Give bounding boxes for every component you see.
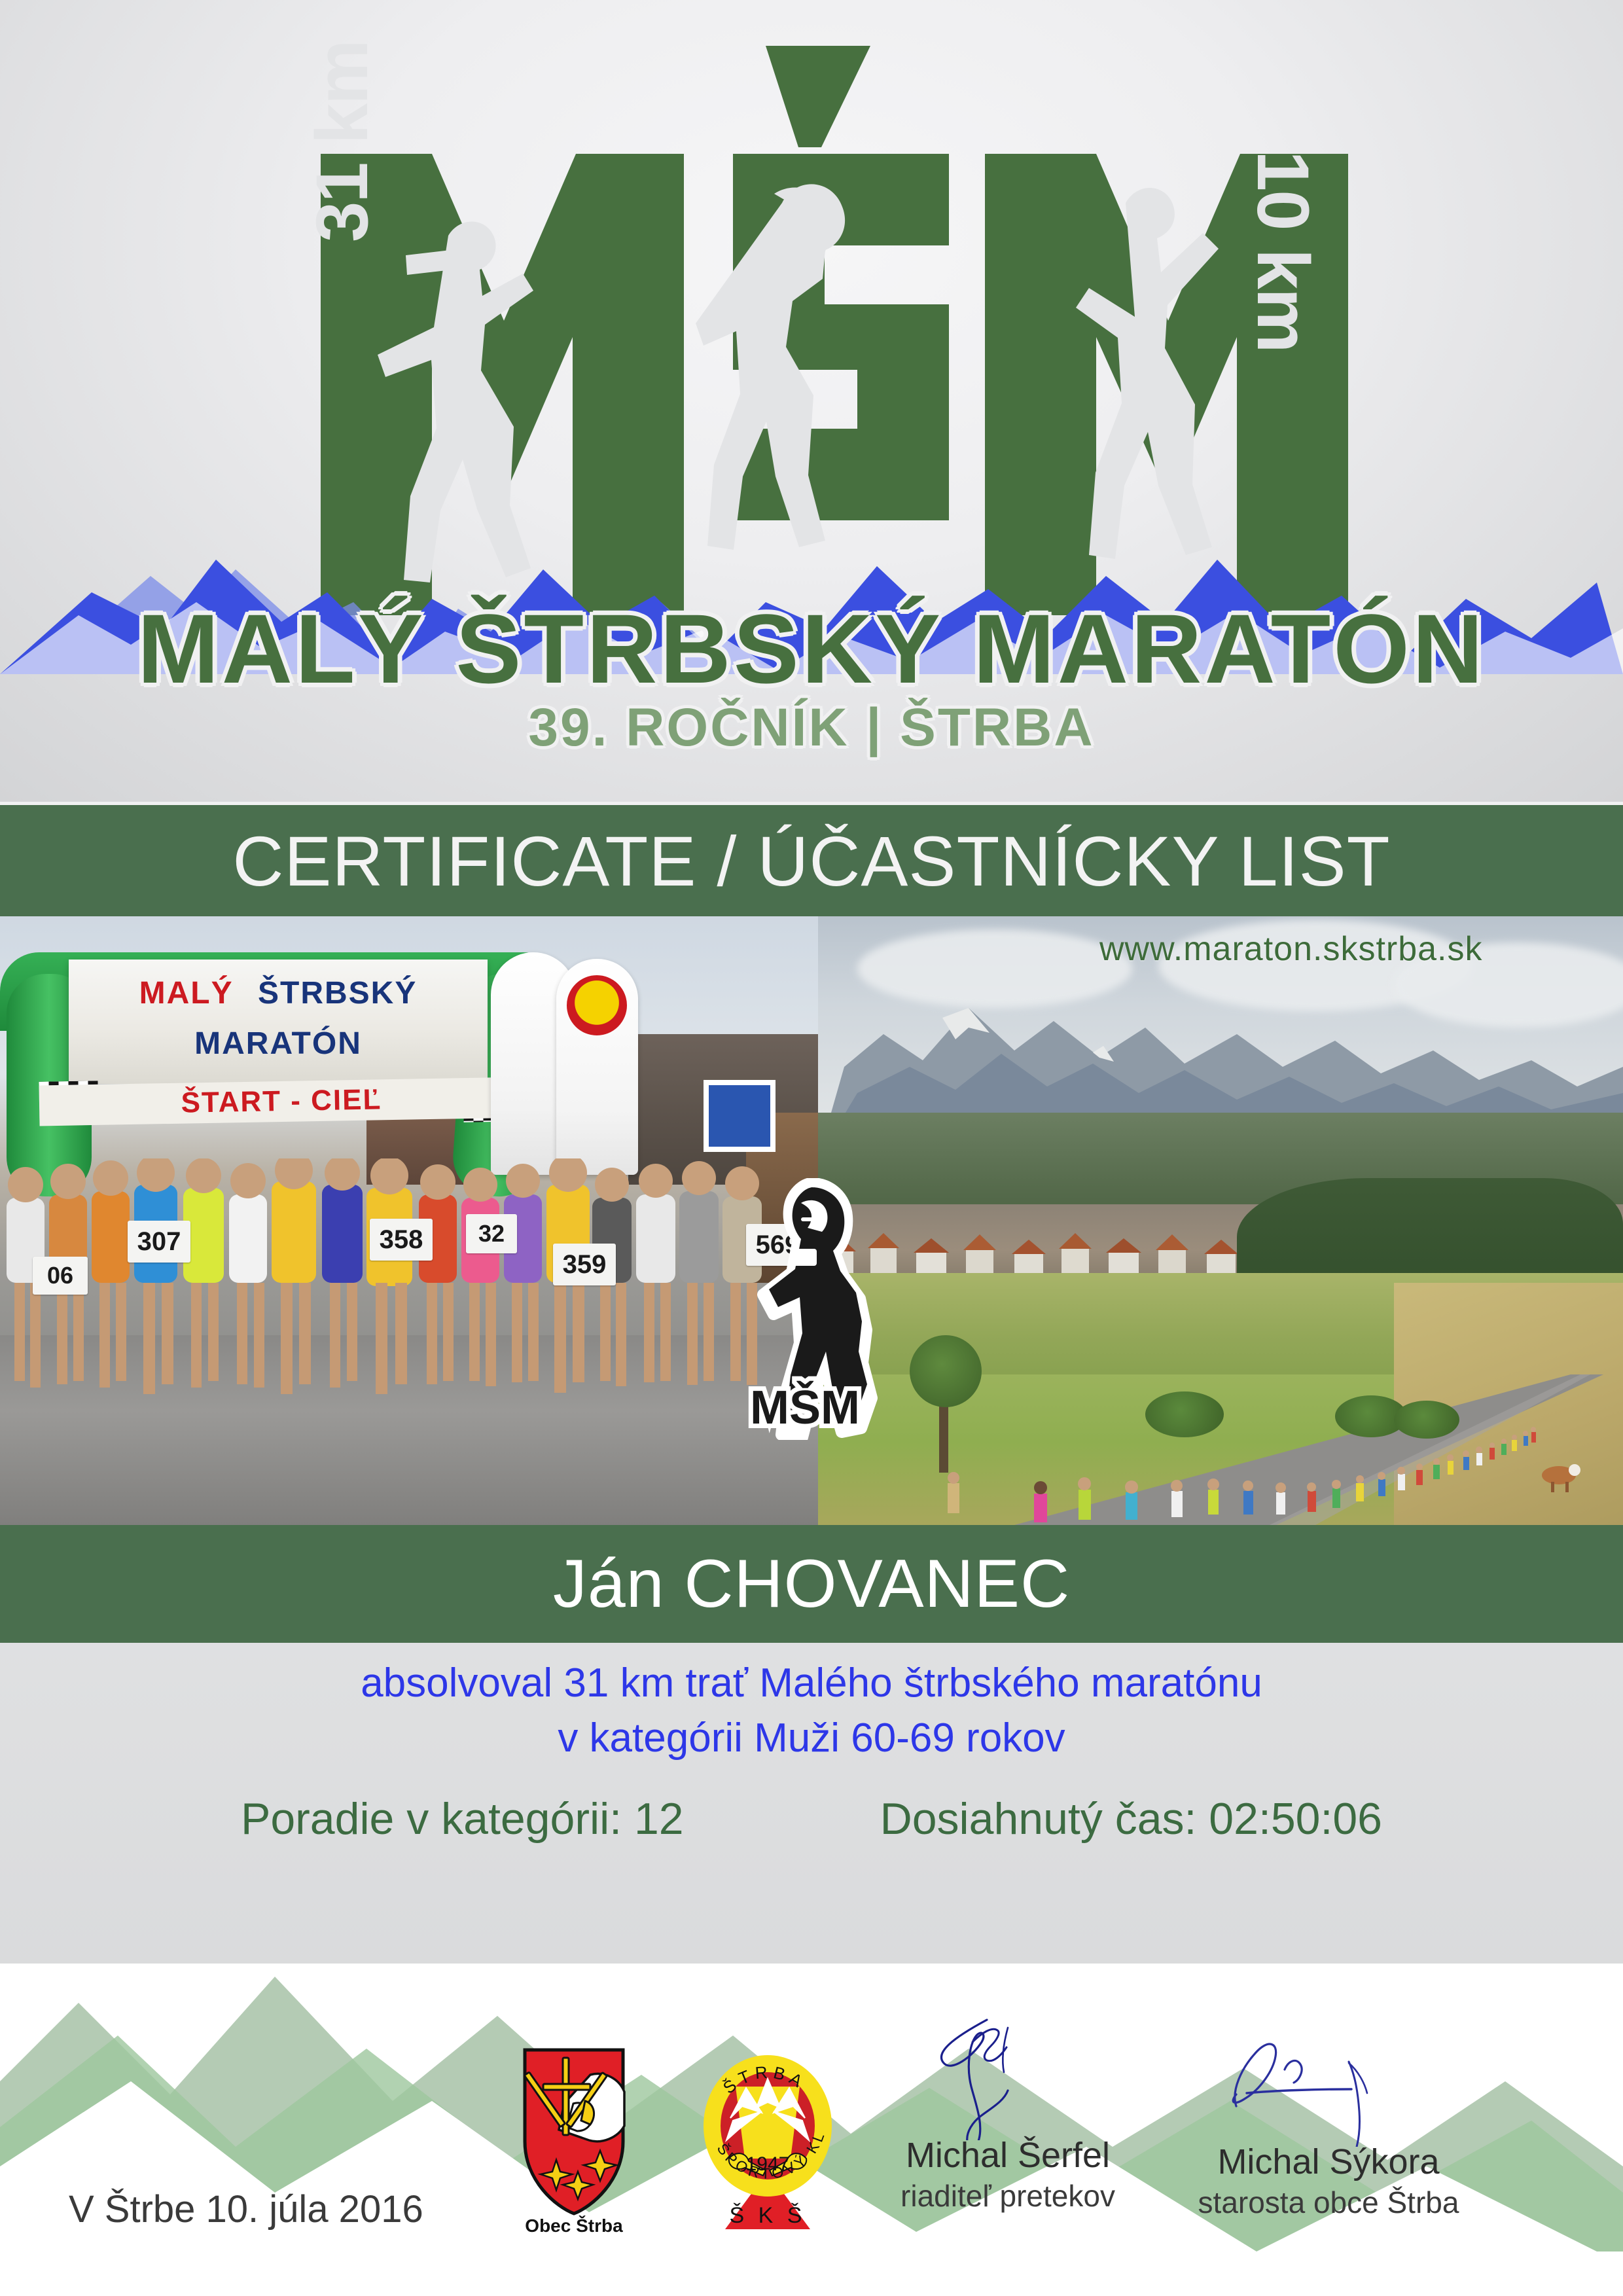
certificate-body: absolvoval 31 km trať Malého štrbského m… bbox=[0, 1656, 1623, 1766]
obec-strba-emblem-icon: Obec Štrba bbox=[512, 2043, 636, 2240]
bib-number: 359 bbox=[553, 1244, 616, 1285]
arch-banner-line-2: MARATÓN bbox=[69, 1026, 488, 1062]
body-line-1: absolvoval 31 km trať Malého štrbského m… bbox=[0, 1656, 1623, 1711]
event-wordmark: MALÝ ŠTRBSKÝ MARATÓN bbox=[0, 592, 1623, 706]
msm-logo: 31 km 10 km bbox=[190, 39, 1433, 615]
signature-block-director: Michal Šerfel riaditeľ pretekov bbox=[857, 2016, 1158, 2214]
bib-number: 307 bbox=[128, 1221, 190, 1263]
category-rank: Poradie v kategórii: 12 bbox=[241, 1793, 684, 1844]
website-url: www.maraton.skstrba.sk bbox=[1099, 929, 1483, 969]
start-finish-banner: ŠTART - CIEĽ bbox=[39, 1077, 524, 1126]
signature-role: riaditeľ pretekov bbox=[857, 2178, 1158, 2214]
arch-word-strbsky: ŠTRBSKÝ bbox=[243, 976, 417, 1011]
participant-name: Ján CHOVANEC bbox=[553, 1545, 1070, 1623]
body-line-2: v kategórii Muži 60-69 rokov bbox=[0, 1711, 1623, 1766]
forest-hill bbox=[1237, 1178, 1623, 1276]
runner-crowd-icon bbox=[0, 1158, 818, 1525]
header-logo-area: 31 km 10 km MALÝ ŠTRBSKÝ MARATÓN 39. ROČ… bbox=[0, 0, 1623, 802]
handwritten-signature-icon bbox=[1221, 2022, 1436, 2147]
photo-band: MALÝ ŠTRBSKÝ MARATÓN ŠTART - CIEĽ bbox=[0, 916, 1623, 1525]
arch-banner-line-1: MALÝ ŠTRBSKÝ bbox=[69, 975, 488, 1011]
msm-badge-text: MŠM bbox=[750, 1381, 860, 1434]
photo-right-background: www.maraton.skstrba.sk bbox=[818, 916, 1623, 1525]
signature-name: Michal Sýkora bbox=[1178, 2142, 1479, 2182]
certificate-page: 31 km 10 km MALÝ ŠTRBSKÝ MARATÓN 39. ROČ… bbox=[0, 0, 1623, 2296]
results-row: Poradie v kategórii: 12 Dosiahnutý čas: … bbox=[0, 1793, 1623, 1844]
distance-label-left: 31 km bbox=[300, 41, 384, 242]
certificate-title-bar: CERTIFICATE / ÚČASTNÍCKY LIST bbox=[0, 805, 1623, 916]
arch-banner: MALÝ ŠTRBSKÝ MARATÓN bbox=[69, 960, 488, 1084]
signature-role: starosta obce Štrba bbox=[1178, 2185, 1479, 2220]
bib-number: 358 bbox=[370, 1219, 433, 1261]
distant-runners-icon bbox=[818, 1361, 1623, 1525]
road-sign-icon bbox=[704, 1080, 776, 1152]
signature-block-mayor: Michal Sýkora starosta obce Štrba bbox=[1178, 2022, 1479, 2220]
photo-start-line: MALÝ ŠTRBSKÝ MARATÓN ŠTART - CIEĽ bbox=[0, 916, 818, 1525]
distance-label-right: 10 km bbox=[1241, 151, 1325, 352]
handwritten-signature-icon bbox=[910, 2016, 1106, 2140]
participant-name-band: Ján CHOVANEC bbox=[0, 1525, 1623, 1643]
signature-name: Michal Šerfel bbox=[857, 2135, 1158, 2176]
issue-date: V Štrbe 10. júla 2016 bbox=[69, 2187, 423, 2231]
certificate-title: CERTIFICATE / ÚČASTNÍCKY LIST bbox=[232, 820, 1390, 902]
finish-time: Dosiahnutý čas: 02:50:06 bbox=[880, 1793, 1382, 1844]
obec-strba-caption: Obec Štrba bbox=[525, 2215, 623, 2236]
msm-runner-badge-icon: MŠM bbox=[733, 1178, 897, 1440]
sks-club-emblem-icon: 1947 ŠTRBA ŠPORTOVÝ KLUB Š K Š bbox=[692, 2047, 843, 2244]
sks-bottom-text: Š K Š bbox=[730, 2203, 806, 2228]
sponsor-badge-icon bbox=[567, 975, 627, 1035]
bib-number: 32 bbox=[466, 1214, 517, 1253]
photo-tatra-landscape: www.maraton.skstrba.sk bbox=[818, 916, 1623, 1525]
event-subwordmark: 39. ROČNÍK | ŠTRBA bbox=[0, 697, 1623, 759]
arch-word-maly: MALÝ bbox=[139, 976, 234, 1011]
bib-number: 06 bbox=[33, 1257, 88, 1295]
